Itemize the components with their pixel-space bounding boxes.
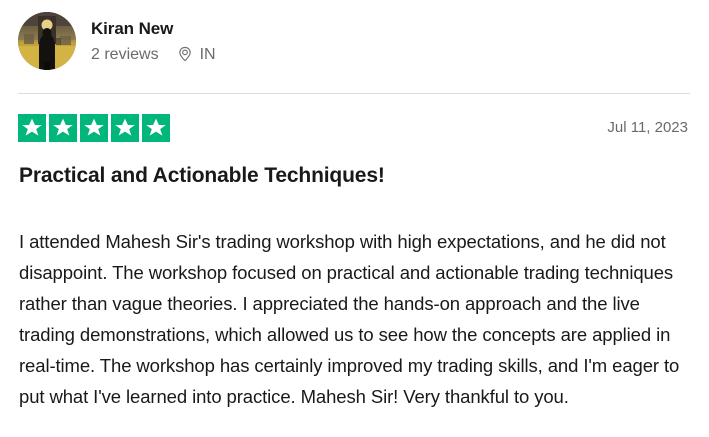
star-rating[interactable] bbox=[18, 114, 170, 142]
consumer-location: IN bbox=[177, 44, 216, 65]
consumer-name[interactable]: Kiran New bbox=[91, 18, 216, 40]
star-icon-3 bbox=[80, 114, 108, 142]
consumer-header: Kiran New 2 reviews IN bbox=[18, 12, 216, 70]
consumer-location-code: IN bbox=[200, 44, 216, 65]
avatar[interactable] bbox=[18, 12, 76, 70]
review-card: Kiran New 2 reviews IN bbox=[0, 0, 709, 437]
consumer-meta: 2 reviews IN bbox=[91, 44, 216, 65]
star-icon-1 bbox=[18, 114, 46, 142]
review-date: Jul 11, 2023 bbox=[607, 118, 690, 138]
star-icon-2 bbox=[49, 114, 77, 142]
consumer-review-count: 2 reviews bbox=[91, 44, 159, 65]
rating-row: Jul 11, 2023 bbox=[18, 114, 690, 142]
consumer-info: Kiran New 2 reviews IN bbox=[91, 18, 216, 65]
star-icon-4 bbox=[111, 114, 139, 142]
location-pin-icon bbox=[177, 46, 193, 62]
star-icon-5 bbox=[142, 114, 170, 142]
header-divider bbox=[18, 93, 690, 94]
review-body-text: I attended Mahesh Sir's trading workshop… bbox=[19, 226, 684, 412]
avatar-image bbox=[18, 12, 76, 70]
review-title[interactable]: Practical and Actionable Techniques! bbox=[19, 162, 385, 189]
